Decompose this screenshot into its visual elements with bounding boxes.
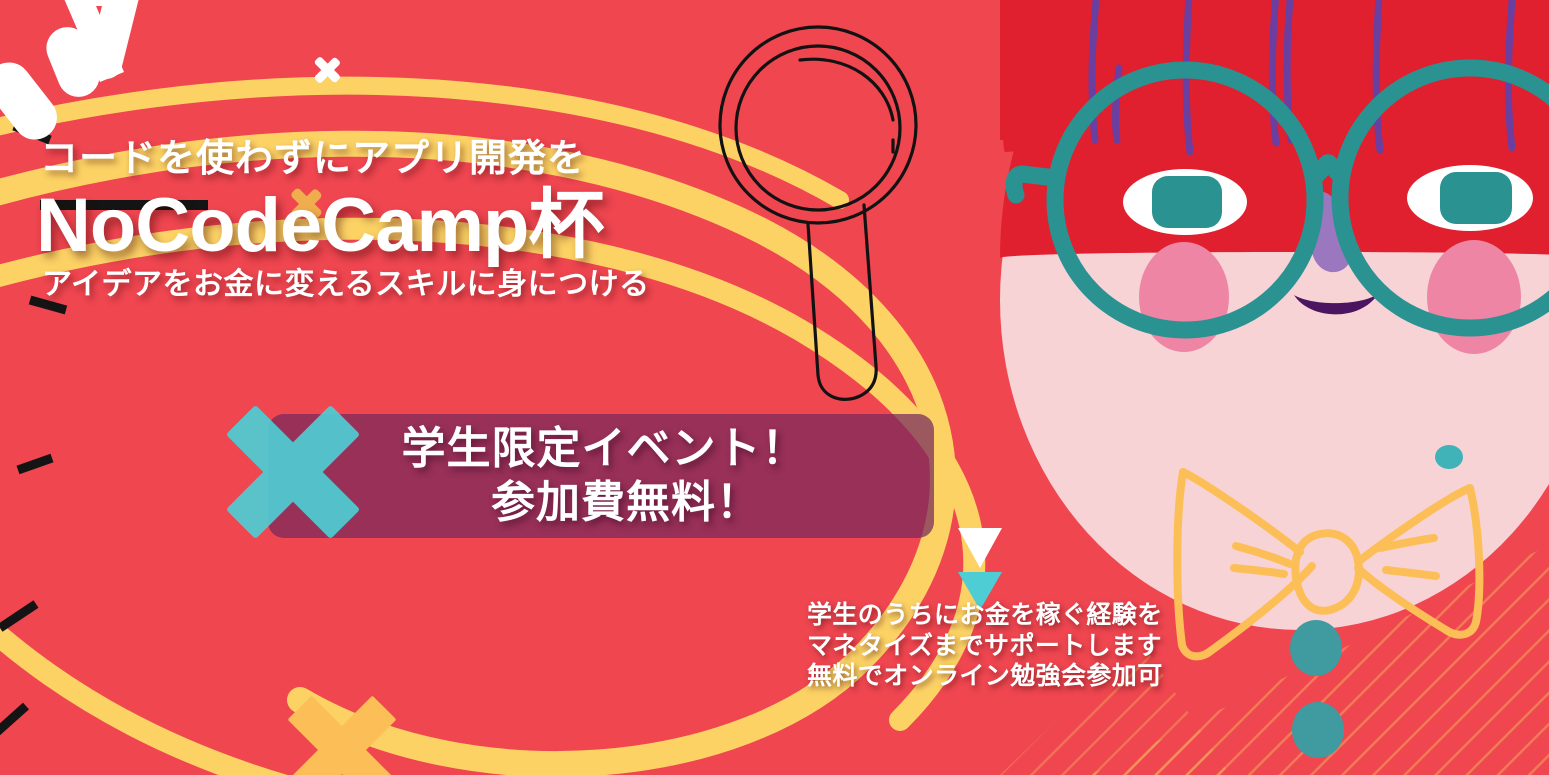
- triangle-down-icon-white: [958, 528, 1002, 568]
- triangle-down-icon-teal: [958, 572, 1002, 610]
- arrow-indicators: [0, 0, 1549, 775]
- promo-banner-canvas: コードを使わずにアプリ開発を NoCodeCamp杯 アイデアをお金に変えるスキ…: [0, 0, 1549, 775]
